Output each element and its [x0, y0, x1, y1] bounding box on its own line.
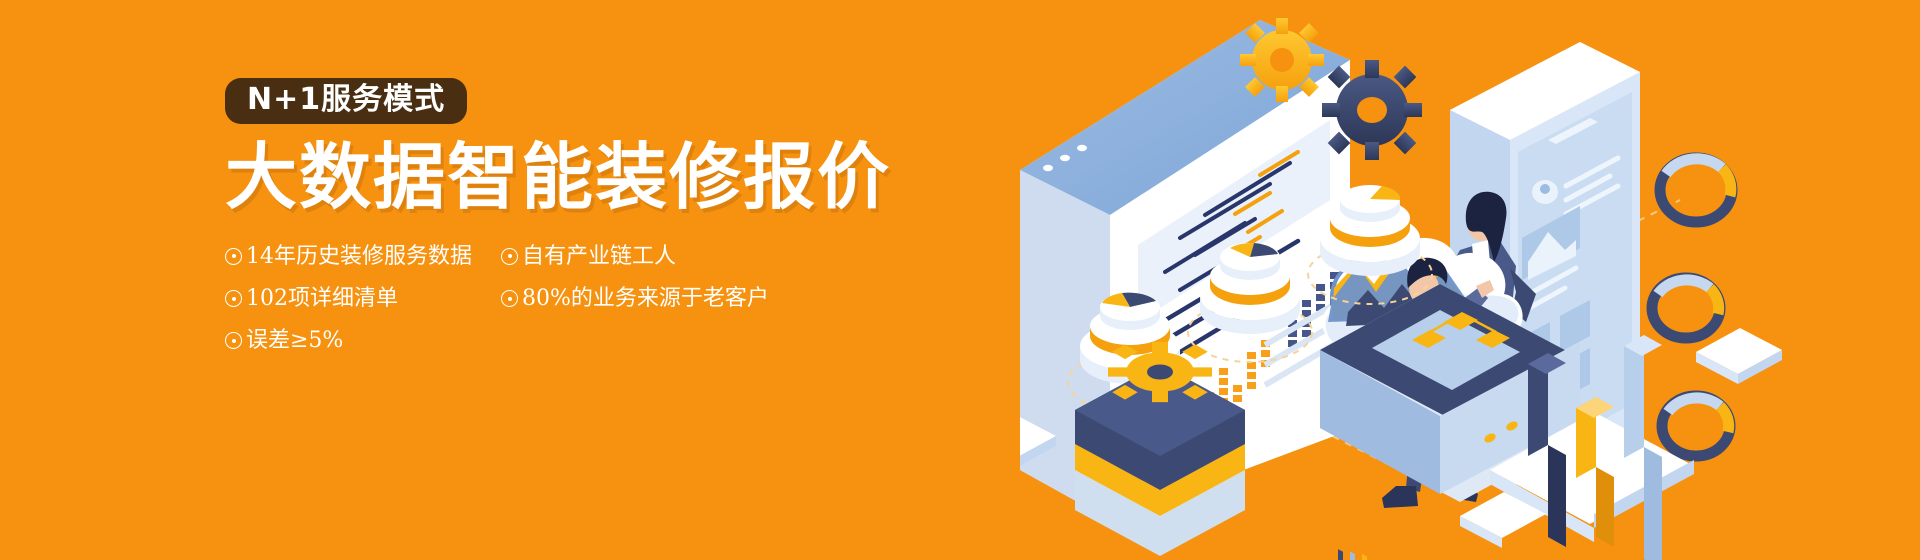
feature-column-left: 14年历史装修服务数据 102项详细清单 误差≥5%: [225, 244, 475, 354]
circle-dot-icon: [225, 248, 242, 265]
copy-block: N+1服务模式 大数据智能装修报价 14年历史装修服务数据 102项详细清单 误…: [225, 78, 905, 353]
big-data-isometric-illustration: [1020, 0, 1920, 560]
circle-dot-icon: [501, 290, 518, 307]
gear-blue: [1322, 60, 1422, 160]
list-item: 误差≥5%: [225, 328, 475, 353]
page-title: 大数据智能装修报价: [225, 140, 905, 216]
promo-banner: N+1服务模式 大数据智能装修报价 14年历史装修服务数据 102项详细清单 误…: [0, 0, 1920, 560]
feature-list: 14年历史装修服务数据 102项详细清单 误差≥5% 自有产业链工人: [225, 244, 905, 354]
list-item: 14年历史装修服务数据: [225, 244, 475, 269]
feature-text: 80%的业务来源于老客户: [522, 286, 769, 311]
feature-text: 102项详细清单: [246, 286, 398, 311]
gear-yellow-icon: [1108, 342, 1212, 402]
list-item: 自有产业链工人: [501, 244, 769, 269]
circle-dot-icon: [225, 290, 242, 307]
list-item: 80%的业务来源于老客户: [501, 286, 769, 311]
feature-text: 自有产业链工人: [522, 244, 676, 269]
circle-dot-icon: [501, 248, 518, 265]
list-item: 102项详细清单: [225, 286, 475, 311]
ring-chart: [1652, 158, 1732, 456]
circle-dot-icon: [225, 332, 242, 349]
feature-text: 14年历史装修服务数据: [246, 244, 472, 269]
gear-yellow: [1240, 18, 1324, 102]
feature-text: 误差≥5%: [246, 328, 343, 353]
feature-column-right: 自有产业链工人 80%的业务来源于老客户: [501, 244, 769, 312]
service-mode-badge: N+1服务模式: [225, 78, 467, 124]
bar-chart-mini: [1338, 549, 1403, 560]
